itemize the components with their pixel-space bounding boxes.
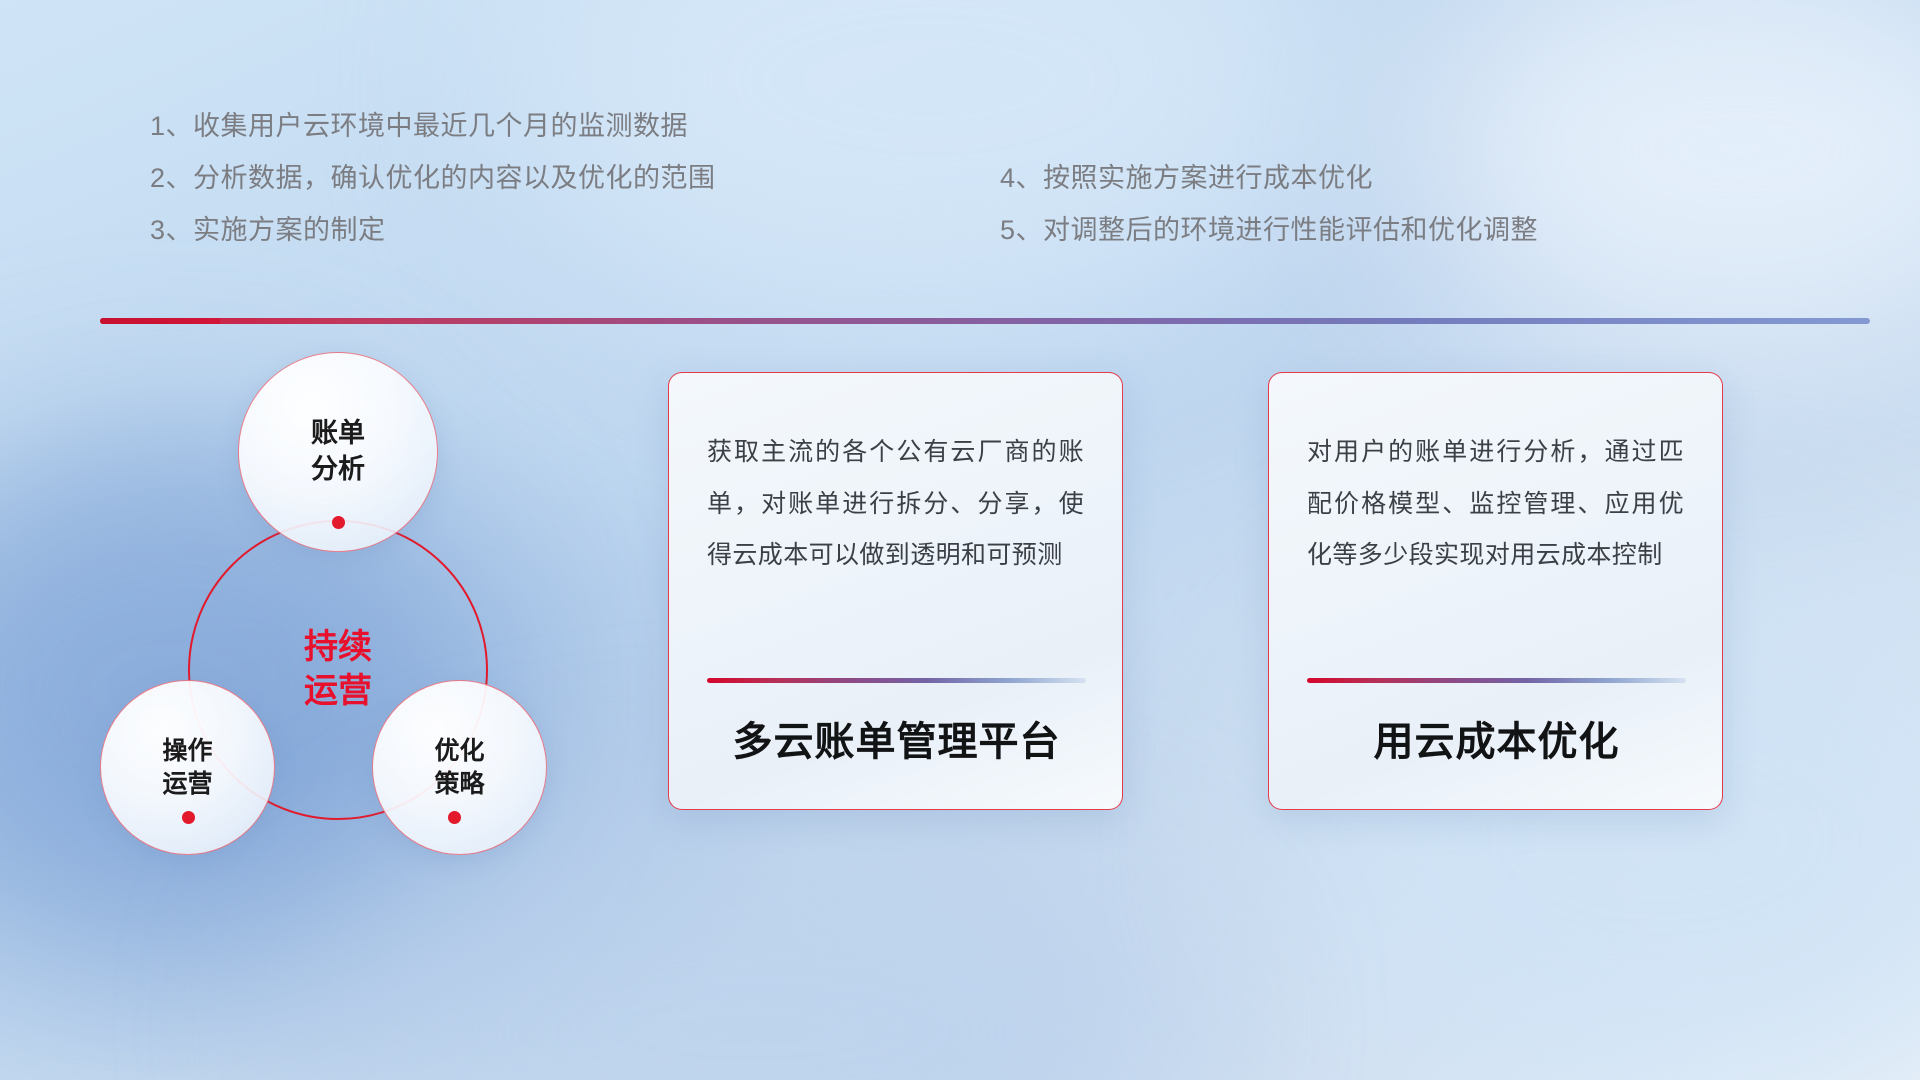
card-body-text: 对用户的账单进行分析，通过匹配价格模型、监控管理、应用优化等多少段实现对用云成本… bbox=[1307, 427, 1684, 639]
diagram-center-line-2: 运营 bbox=[304, 670, 372, 714]
slide-canvas: 1、收集用户云环境中最近几个月的监测数据 2、分析数据，确认优化的内容以及优化的… bbox=[0, 0, 1920, 1080]
diagram-node-operations[interactable]: 操作 运营 bbox=[100, 680, 275, 855]
feature-card-multicloud-billing[interactable]: 获取主流的各个公有云厂商的账单，对账单进行拆分、分享，使得云成本可以做到透明和可… bbox=[668, 372, 1123, 810]
step-item-4: 4、按照实施方案进行成本优化 bbox=[1000, 152, 1538, 204]
card-title: 多云账单管理平台 bbox=[707, 709, 1086, 767]
node-label-line-1: 账单 bbox=[311, 416, 365, 452]
step-item-5: 5、对调整后的环境进行性能评估和优化调整 bbox=[1000, 204, 1538, 256]
steps-left-column: 1、收集用户云环境中最近几个月的监测数据 2、分析数据，确认优化的内容以及优化的… bbox=[150, 100, 716, 256]
node-label-line-1: 优化 bbox=[434, 735, 484, 768]
diagram-node-optimization-strategy[interactable]: 优化 策略 bbox=[372, 680, 547, 855]
node-label-line-2: 分析 bbox=[311, 452, 365, 488]
step-item-1: 1、收集用户云环境中最近几个月的监测数据 bbox=[150, 100, 716, 152]
node-label-line-1: 操作 bbox=[162, 735, 212, 768]
step-item-2: 2、分析数据，确认优化的内容以及优化的范围 bbox=[150, 152, 716, 204]
continuous-operation-diagram: 持续 运营 账单 分析 操作 运营 优化 策略 bbox=[100, 352, 620, 952]
diagram-connector-dot-right bbox=[448, 811, 461, 824]
step-item-3: 3、实施方案的制定 bbox=[150, 204, 716, 256]
steps-right-column: 4、按照实施方案进行成本优化 5、对调整后的环境进行性能评估和优化调整 bbox=[1000, 152, 1538, 256]
card-title: 用云成本优化 bbox=[1307, 709, 1686, 767]
card-divider-rule bbox=[707, 678, 1086, 683]
diagram-center-line-1: 持续 bbox=[304, 626, 372, 670]
feature-card-cloud-cost-optimization[interactable]: 对用户的账单进行分析，通过匹配价格模型、监控管理、应用优化等多少段实现对用云成本… bbox=[1268, 372, 1723, 810]
header-divider-rule bbox=[100, 318, 1870, 324]
node-label-line-2: 策略 bbox=[434, 768, 484, 801]
card-divider-rule bbox=[1307, 678, 1686, 683]
card-body-text: 获取主流的各个公有云厂商的账单，对账单进行拆分、分享，使得云成本可以做到透明和可… bbox=[707, 427, 1084, 639]
diagram-connector-dot-left bbox=[182, 811, 195, 824]
diagram-connector-dot-top bbox=[332, 516, 345, 529]
node-label-line-2: 运营 bbox=[162, 768, 212, 801]
